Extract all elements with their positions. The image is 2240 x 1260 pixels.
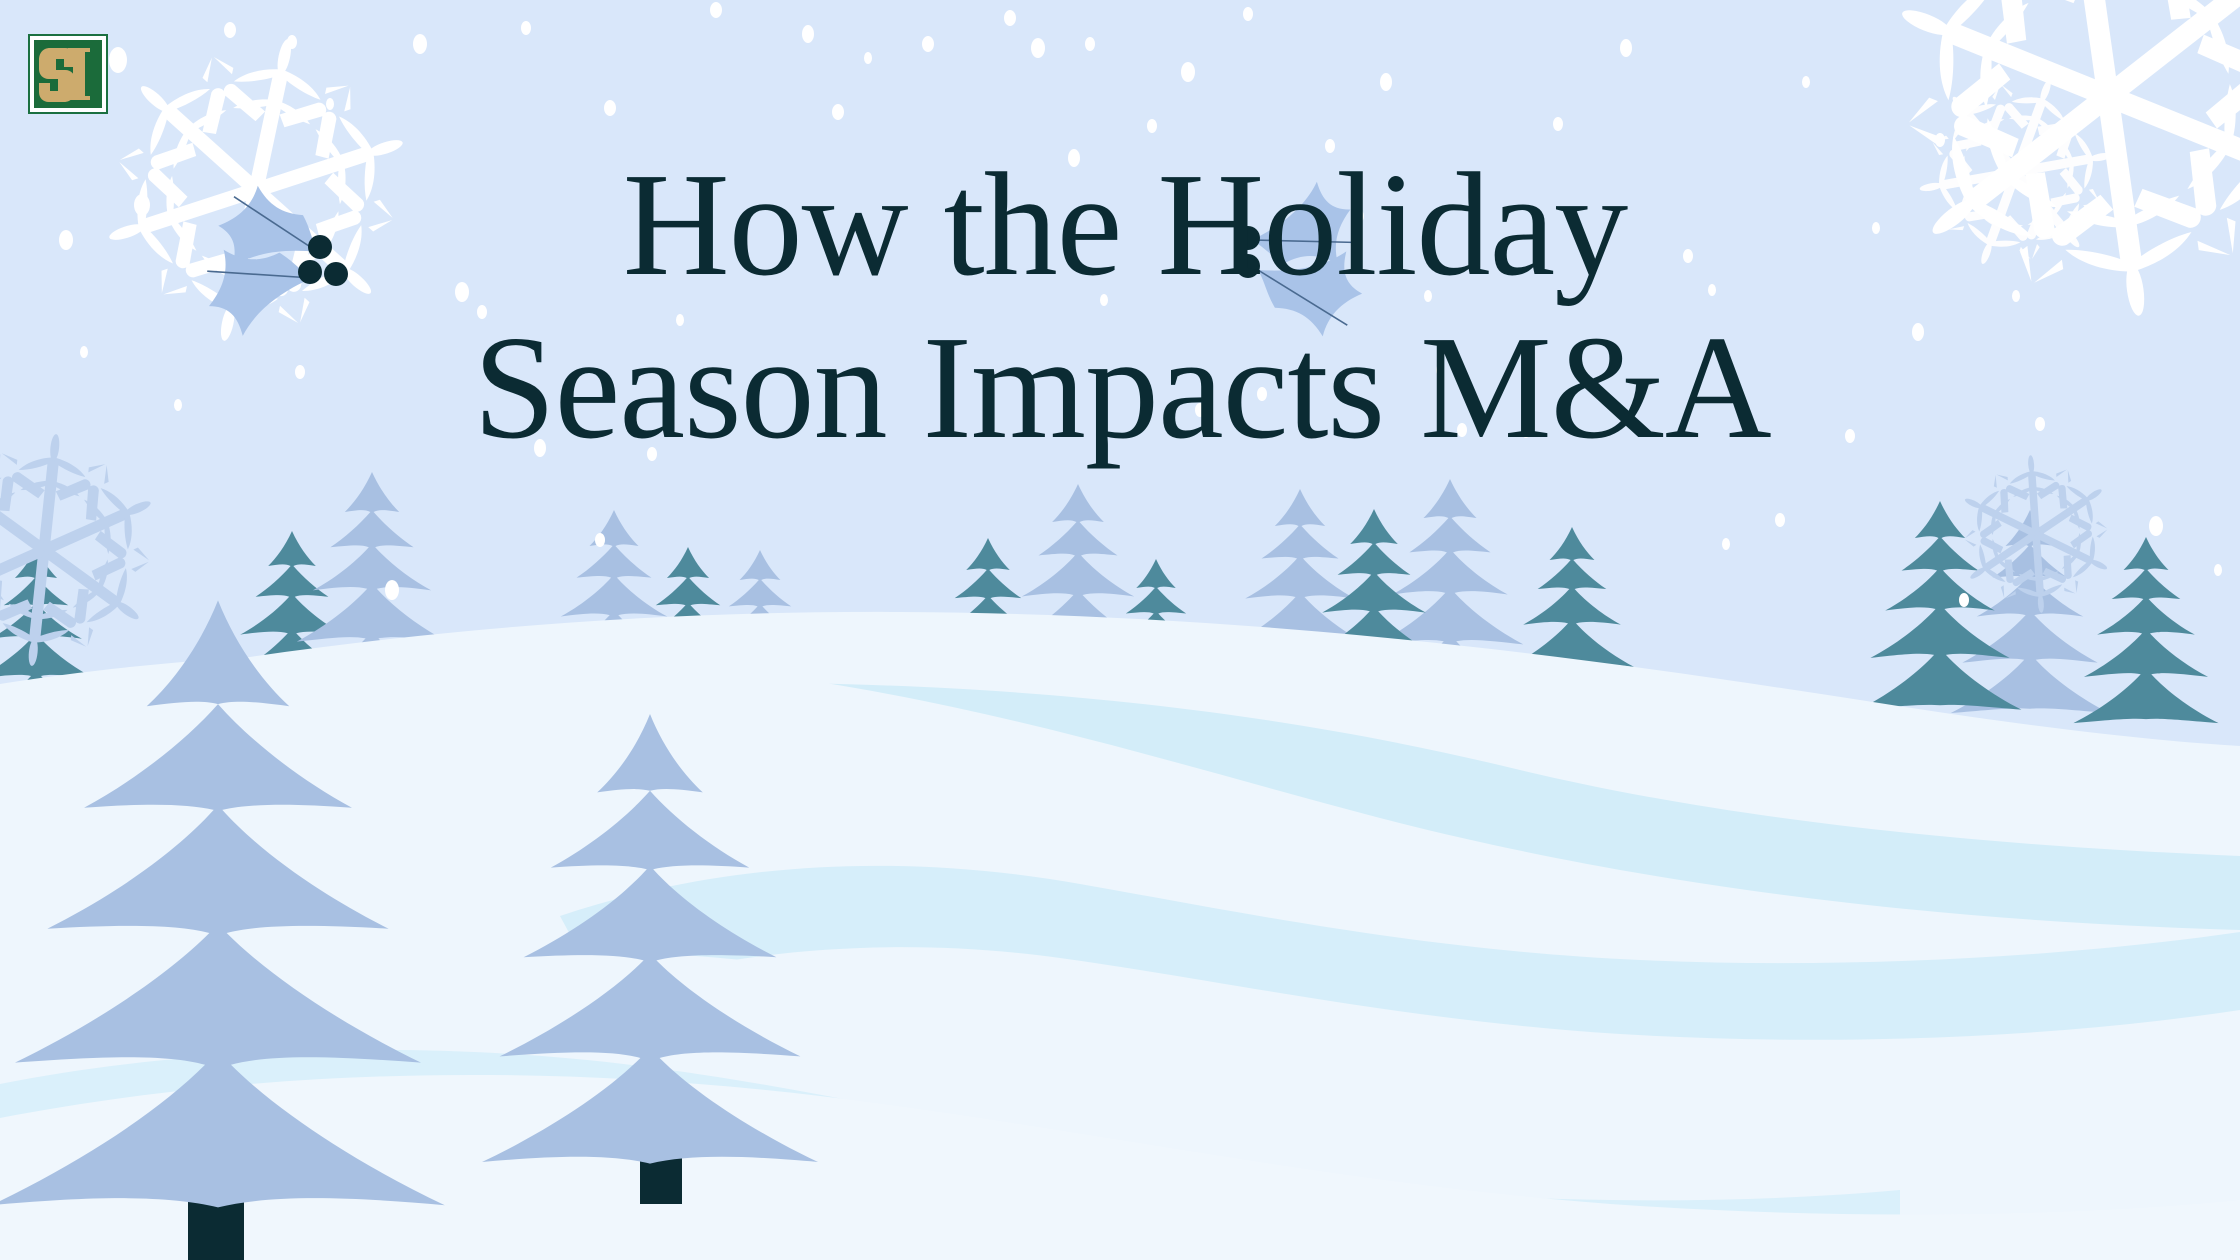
sh-monogram-logo[interactable] (28, 34, 108, 114)
holly-berry (298, 260, 322, 284)
logo-letters-sh (39, 48, 90, 102)
holly-berry (1236, 254, 1260, 278)
holly-berry (308, 235, 332, 259)
graphic-canvas: How the Holiday Season Impacts M&A (0, 0, 2240, 1260)
logo-mark (28, 34, 108, 114)
holly-berry (324, 262, 348, 286)
holly-berry (1236, 226, 1260, 250)
winter-landscape-scene (0, 0, 2240, 1260)
